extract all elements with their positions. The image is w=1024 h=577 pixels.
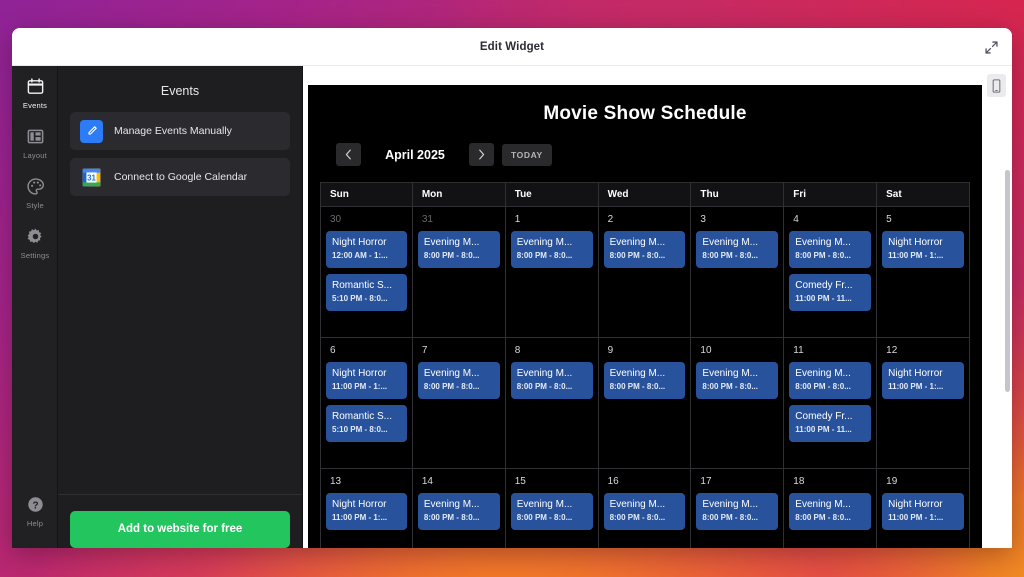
event-time: 8:00 PM - 8:0... xyxy=(795,381,865,393)
calendar-event-chip[interactable]: Evening M...8:00 PM - 8:0... xyxy=(604,362,686,399)
event-title: Evening M... xyxy=(795,498,865,511)
pencil-icon xyxy=(80,120,103,143)
calendar-day-cell[interactable]: 31Evening M...8:00 PM - 8:0... xyxy=(413,207,506,338)
calendar-event-chip[interactable]: Night Horror11:00 PM - 1:... xyxy=(882,362,964,399)
calendar-day-cell[interactable]: 12Night Horror11:00 PM - 1:... xyxy=(877,338,970,469)
calendar-event-chip[interactable]: Evening M...8:00 PM - 8:0... xyxy=(418,231,500,268)
calendar-day-number: 16 xyxy=(604,476,686,487)
event-title: Night Horror xyxy=(888,498,958,511)
event-time: 5:10 PM - 8:0... xyxy=(332,424,401,436)
calendar-event-chip[interactable]: Comedy Fr...11:00 PM - 11... xyxy=(789,405,871,442)
prev-month-button[interactable] xyxy=(336,143,361,166)
scrollbar-thumb[interactable] xyxy=(1005,170,1010,392)
event-time: 8:00 PM - 8:0... xyxy=(424,381,494,393)
event-title: Evening M... xyxy=(517,498,587,511)
calendar-day-number: 18 xyxy=(789,476,871,487)
layout-grid-icon xyxy=(26,127,45,146)
svg-text:?: ? xyxy=(32,500,38,511)
event-time: 8:00 PM - 8:0... xyxy=(610,512,680,524)
calendar-day-number: 13 xyxy=(326,476,407,487)
events-options-list: Manage Events Manually 31 xyxy=(58,112,302,196)
panel-spacer xyxy=(58,196,302,494)
calendar-weeks-container: 30Night Horror12:00 AM - 1:...Romantic S… xyxy=(320,207,970,548)
calendar-day-cell[interactable]: 6Night Horror11:00 PM - 1:...Romantic S.… xyxy=(320,338,413,469)
calendar-day-cell[interactable]: 19Night Horror11:00 PM - 1:... xyxy=(877,469,970,548)
calendar-event-chip[interactable]: Evening M...8:00 PM - 8:0... xyxy=(789,362,871,399)
calendar-grid: SunMonTueWedThuFriSat 30Night Horror12:0… xyxy=(320,182,970,548)
event-title: Evening M... xyxy=(424,236,494,249)
gear-icon xyxy=(26,227,45,246)
event-title: Evening M... xyxy=(795,367,865,380)
event-time: 11:00 PM - 1:... xyxy=(888,512,958,524)
calendar-day-number: 19 xyxy=(882,476,964,487)
current-month-label: April 2025 xyxy=(369,148,461,162)
event-time: 8:00 PM - 8:0... xyxy=(702,250,772,262)
manage-events-manually-button[interactable]: Manage Events Manually xyxy=(70,112,290,150)
calendar-event-chip[interactable]: Evening M...8:00 PM - 8:0... xyxy=(604,493,686,530)
preview-vertical-scrollbar[interactable] xyxy=(1005,74,1010,540)
calendar-day-number: 15 xyxy=(511,476,593,487)
mobile-phone-icon[interactable] xyxy=(987,74,1006,97)
calendar-event-chip[interactable]: Night Horror11:00 PM - 1:... xyxy=(882,231,964,268)
event-time: 11:00 PM - 1:... xyxy=(332,381,401,393)
event-time: 11:00 PM - 1:... xyxy=(332,512,401,524)
event-time: 12:00 AM - 1:... xyxy=(332,250,401,262)
calendar-event-chip[interactable]: Evening M...8:00 PM - 8:0... xyxy=(418,362,500,399)
event-title: Night Horror xyxy=(888,236,958,249)
calendar-week-row: 13Night Horror11:00 PM - 1:...14Evening … xyxy=(320,469,970,548)
calendar-day-number: 5 xyxy=(882,214,964,225)
calendar-event-chip[interactable]: Romantic S...5:10 PM - 8:0... xyxy=(326,405,407,442)
calendar-day-cell[interactable]: 13Night Horror11:00 PM - 1:... xyxy=(320,469,413,548)
expand-arrows-icon[interactable] xyxy=(981,37,1002,58)
calendar-weekday-header: Mon xyxy=(413,183,506,207)
sidebar-item-label: Style xyxy=(26,201,44,210)
calendar-event-chip[interactable]: Evening M...8:00 PM - 8:0... xyxy=(604,231,686,268)
calendar-weekday-header: Tue xyxy=(506,183,599,207)
events-panel-footer: Add to website for free xyxy=(58,494,302,548)
event-title: Evening M... xyxy=(610,236,680,249)
event-time: 8:00 PM - 8:0... xyxy=(702,512,772,524)
calendar-widget: Movie Show Schedule April 2025 TODAY xyxy=(308,85,982,548)
calendar-weekday-header: Wed xyxy=(599,183,692,207)
event-time: 8:00 PM - 8:0... xyxy=(795,512,865,524)
event-title: Evening M... xyxy=(795,236,865,249)
calendar-event-chip[interactable]: Night Horror12:00 AM - 1:... xyxy=(326,231,407,268)
event-title: Comedy Fr... xyxy=(795,410,865,423)
event-time: 8:00 PM - 8:0... xyxy=(702,381,772,393)
sidebar-item-help[interactable]: ? Help xyxy=(12,484,58,534)
calendar-week-row: 30Night Horror12:00 AM - 1:...Romantic S… xyxy=(320,207,970,338)
calendar-event-chip[interactable]: Evening M...8:00 PM - 8:0... xyxy=(511,362,593,399)
calendar-day-cell[interactable]: 3Evening M...8:00 PM - 8:0... xyxy=(691,207,784,338)
event-time: 8:00 PM - 8:0... xyxy=(424,512,494,524)
calendar-day-cell[interactable]: 15Evening M...8:00 PM - 8:0... xyxy=(506,469,599,548)
calendar-event-chip[interactable]: Evening M...8:00 PM - 8:0... xyxy=(511,493,593,530)
calendar-event-chip[interactable]: Evening M...8:00 PM - 8:0... xyxy=(789,493,871,530)
calendar-event-chip[interactable]: Evening M...8:00 PM - 8:0... xyxy=(418,493,500,530)
svg-text:31: 31 xyxy=(87,173,96,182)
calendar-day-cell[interactable]: 14Evening M...8:00 PM - 8:0... xyxy=(413,469,506,548)
calendar-day-number: 12 xyxy=(882,345,964,356)
events-settings-panel: Events Manage Events Manually xyxy=(58,66,303,548)
events-panel-heading: Events xyxy=(58,66,302,112)
event-time: 11:00 PM - 11... xyxy=(795,293,865,305)
calendar-day-cell[interactable]: 11Evening M...8:00 PM - 8:0...Comedy Fr.… xyxy=(784,338,877,469)
event-time: 8:00 PM - 8:0... xyxy=(610,381,680,393)
calendar-event-chip[interactable]: Comedy Fr...11:00 PM - 11... xyxy=(789,274,871,311)
next-month-button[interactable] xyxy=(469,143,494,166)
calendar-day-cell[interactable]: 2Evening M...8:00 PM - 8:0... xyxy=(599,207,692,338)
calendar-day-number: 17 xyxy=(696,476,778,487)
event-title: Evening M... xyxy=(610,367,680,380)
sidebar-item-label: Help xyxy=(27,519,43,528)
calendar-icon xyxy=(26,77,45,96)
calendar-day-number: 14 xyxy=(418,476,500,487)
window-title-bar: Edit Widget xyxy=(12,28,1012,66)
event-time: 11:00 PM - 11... xyxy=(795,424,865,436)
calendar-day-cell[interactable]: 17Evening M...8:00 PM - 8:0... xyxy=(691,469,784,548)
calendar-event-chip[interactable]: Night Horror11:00 PM - 1:... xyxy=(326,362,407,399)
connect-google-calendar-button[interactable]: 31 Connect to Google Calendar xyxy=(70,158,290,196)
calendar-day-number: 6 xyxy=(326,345,407,356)
calendar-day-number: 1 xyxy=(511,214,593,225)
event-title: Evening M... xyxy=(424,367,494,380)
sidebar-item-label: Layout xyxy=(23,151,47,160)
calendar-weekday-header: Sat xyxy=(877,183,970,207)
google-calendar-icon: 31 xyxy=(80,166,103,189)
calendar-day-cell[interactable]: 5Night Horror11:00 PM - 1:... xyxy=(877,207,970,338)
calendar-day-number: 11 xyxy=(789,345,871,356)
event-time: 8:00 PM - 8:0... xyxy=(795,250,865,262)
calendar-day-number: 2 xyxy=(604,214,686,225)
calendar-day-cell[interactable]: 9Evening M...8:00 PM - 8:0... xyxy=(599,338,692,469)
calendar-event-chip[interactable]: Evening M...8:00 PM - 8:0... xyxy=(696,362,778,399)
edit-widget-window: Edit Widget Events xyxy=(12,28,1012,548)
sidebar-item-settings[interactable]: Settings xyxy=(12,216,58,266)
calendar-day-number: 4 xyxy=(789,214,871,225)
event-time: 8:00 PM - 8:0... xyxy=(517,250,587,262)
event-time: 11:00 PM - 1:... xyxy=(888,381,958,393)
add-to-website-button[interactable]: Add to website for free xyxy=(70,511,290,548)
calendar-event-chip[interactable]: Evening M...8:00 PM - 8:0... xyxy=(696,231,778,268)
calendar-day-cell[interactable]: 16Evening M...8:00 PM - 8:0... xyxy=(599,469,692,548)
calendar-weekday-header: Thu xyxy=(691,183,784,207)
event-title: Evening M... xyxy=(702,498,772,511)
calendar-day-cell[interactable]: 18Evening M...8:00 PM - 8:0... xyxy=(784,469,877,548)
event-time: 8:00 PM - 8:0... xyxy=(517,381,587,393)
window-body: Events Layout xyxy=(12,66,1012,548)
calendar-day-number: 8 xyxy=(511,345,593,356)
event-title: Evening M... xyxy=(517,367,587,380)
calendar-day-cell[interactable]: 7Evening M...8:00 PM - 8:0... xyxy=(413,338,506,469)
calendar-day-number: 9 xyxy=(604,345,686,356)
widget-title: Movie Show Schedule xyxy=(308,85,982,125)
event-time: 5:10 PM - 8:0... xyxy=(332,293,401,305)
event-time: 11:00 PM - 1:... xyxy=(888,250,958,262)
calendar-day-number: 10 xyxy=(696,345,778,356)
calendar-day-number: 3 xyxy=(696,214,778,225)
event-title: Night Horror xyxy=(332,498,401,511)
sidebar-icon-rail: Events Layout xyxy=(12,66,58,548)
event-title: Romantic S... xyxy=(332,279,401,292)
sidebar-item-layout[interactable]: Layout xyxy=(12,116,58,166)
calendar-week-row: 6Night Horror11:00 PM - 1:...Romantic S.… xyxy=(320,338,970,469)
widget-preview-area: Movie Show Schedule April 2025 TODAY xyxy=(303,66,1012,548)
sidebar-item-style[interactable]: Style xyxy=(12,166,58,216)
option-label: Manage Events Manually xyxy=(114,125,232,137)
calendar-weekday-header: Fri xyxy=(784,183,877,207)
calendar-weekday-header-row: SunMonTueWedThuFriSat xyxy=(320,183,970,207)
calendar-event-chip[interactable]: Night Horror11:00 PM - 1:... xyxy=(326,493,407,530)
calendar-weekday-header: Sun xyxy=(320,183,413,207)
calendar-day-cell[interactable]: 10Evening M...8:00 PM - 8:0... xyxy=(691,338,784,469)
event-title: Evening M... xyxy=(517,236,587,249)
event-title: Evening M... xyxy=(424,498,494,511)
calendar-day-cell[interactable]: 8Evening M...8:00 PM - 8:0... xyxy=(506,338,599,469)
event-title: Evening M... xyxy=(610,498,680,511)
calendar-day-cell[interactable]: 1Evening M...8:00 PM - 8:0... xyxy=(506,207,599,338)
palette-icon xyxy=(26,177,45,196)
event-title: Night Horror xyxy=(332,236,401,249)
sidebar-item-events[interactable]: Events xyxy=(12,66,58,116)
calendar-day-number: 7 xyxy=(418,345,500,356)
calendar-event-chip[interactable]: Evening M...8:00 PM - 8:0... xyxy=(789,231,871,268)
calendar-event-chip[interactable]: Romantic S...5:10 PM - 8:0... xyxy=(326,274,407,311)
event-title: Evening M... xyxy=(702,236,772,249)
calendar-day-cell[interactable]: 30Night Horror12:00 AM - 1:...Romantic S… xyxy=(320,207,413,338)
calendar-day-number: 31 xyxy=(418,214,500,225)
question-circle-icon: ? xyxy=(26,495,45,514)
event-title: Comedy Fr... xyxy=(795,279,865,292)
sidebar-item-label: Settings xyxy=(21,251,50,260)
event-title: Night Horror xyxy=(332,367,401,380)
event-time: 8:00 PM - 8:0... xyxy=(517,512,587,524)
event-title: Romantic S... xyxy=(332,410,401,423)
option-label: Connect to Google Calendar xyxy=(114,171,247,183)
today-button[interactable]: TODAY xyxy=(502,144,552,166)
event-title: Night Horror xyxy=(888,367,958,380)
event-time: 8:00 PM - 8:0... xyxy=(610,250,680,262)
calendar-toolbar: April 2025 TODAY xyxy=(308,125,982,166)
calendar-day-cell[interactable]: 4Evening M...8:00 PM - 8:0...Comedy Fr..… xyxy=(784,207,877,338)
page-title: Edit Widget xyxy=(12,28,1012,66)
calendar-event-chip[interactable]: Night Horror11:00 PM - 1:... xyxy=(882,493,964,530)
calendar-day-number: 30 xyxy=(326,214,407,225)
event-time: 8:00 PM - 8:0... xyxy=(424,250,494,262)
calendar-event-chip[interactable]: Evening M...8:00 PM - 8:0... xyxy=(511,231,593,268)
sidebar-item-label: Events xyxy=(23,101,47,110)
event-title: Evening M... xyxy=(702,367,772,380)
calendar-event-chip[interactable]: Evening M...8:00 PM - 8:0... xyxy=(696,493,778,530)
